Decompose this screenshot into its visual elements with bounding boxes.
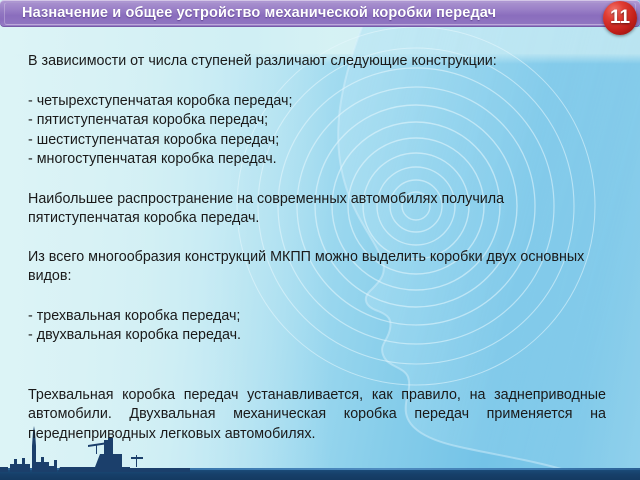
slide-number-label: 11 [603,1,637,35]
list-gear-step-types: - четырехступенчатая коробка передач; - … [28,92,612,170]
slide-title-bar: Назначение и общее устройство механическ… [0,0,640,27]
paragraph-intro: В зависимости от числа ступеней различаю… [28,52,612,72]
slide-canvas: Назначение и общее устройство механическ… [0,0,640,480]
paragraph-two-kinds-intro: Из всего многообразия конструкций МКПП м… [28,248,612,287]
page-title: Назначение и общее устройство механическ… [22,0,496,27]
slide-content: В зависимости от числа ступеней различаю… [28,52,612,444]
paragraph-closing: Трехвальная коробка передач устанавливае… [28,386,606,445]
list-gearbox-kinds: - трехвальная коробка передач; - двухвал… [28,307,612,346]
paragraph-most-common: Наибольшее распространение на современны… [28,190,612,229]
slide-number-badge: 11 [603,1,637,35]
